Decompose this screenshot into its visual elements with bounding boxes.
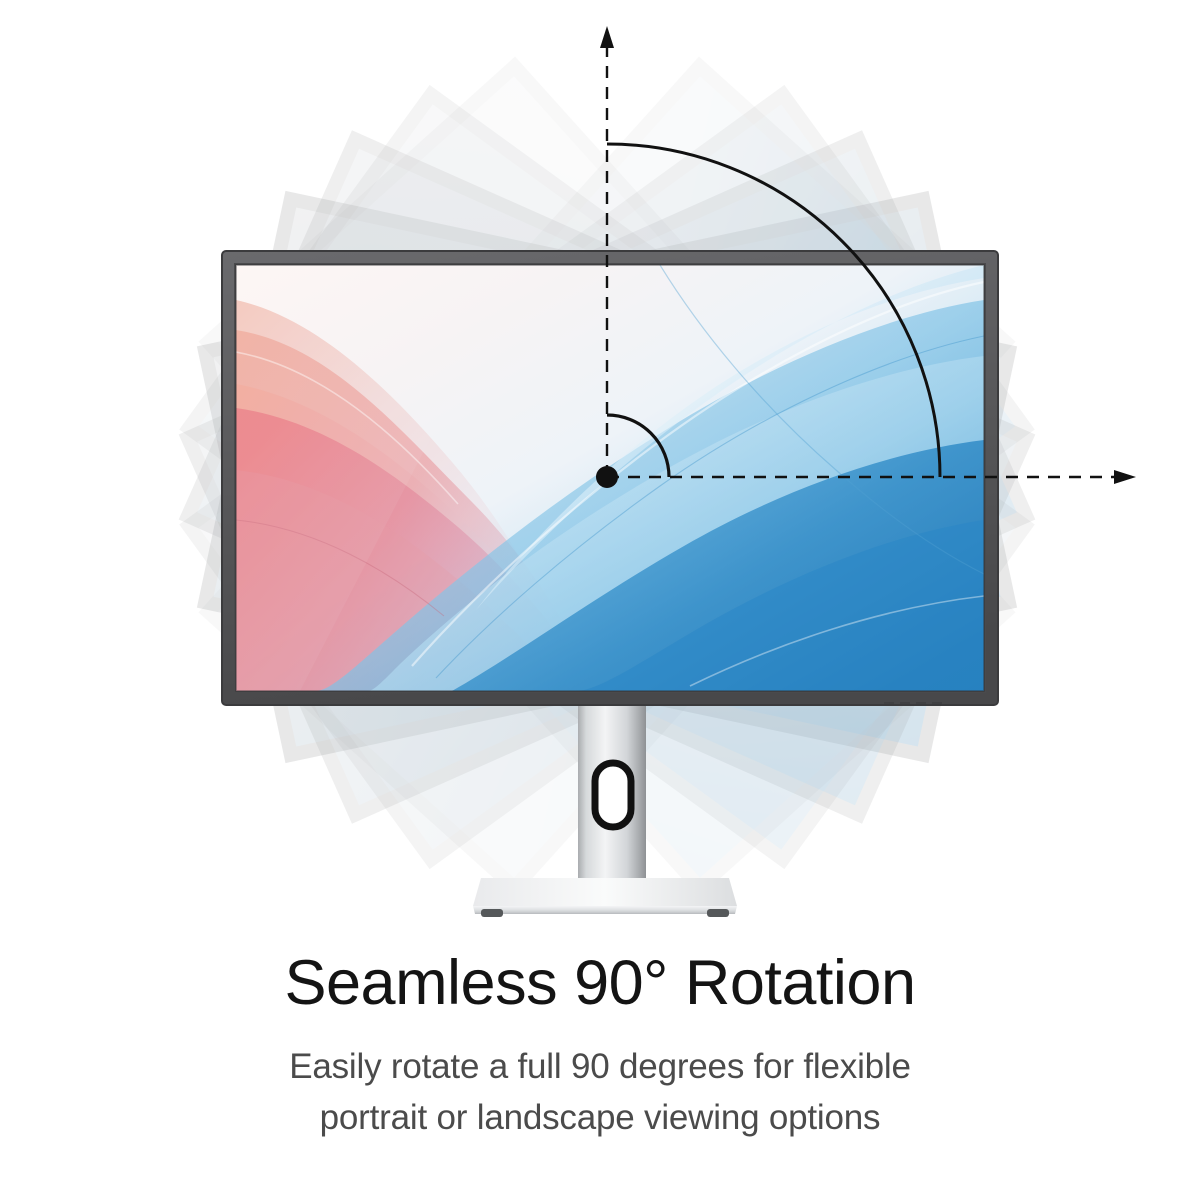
page-title: Seamless 90° Rotation (0, 950, 1200, 1016)
horizontal-axis-arrow (1114, 470, 1136, 484)
page-subtitle: Easily rotate a full 90 degrees for flex… (0, 1016, 1200, 1144)
monitor-rotation-illustration (0, 0, 1200, 940)
vertical-axis-arrow (600, 26, 614, 48)
page-subtitle-line-1: Easily rotate a full 90 degrees for flex… (0, 1042, 1200, 1093)
page-subtitle-line-2: portrait or landscape viewing options (0, 1093, 1200, 1144)
product-feature-image: Seamless 90° Rotation Easily rotate a fu… (0, 0, 1200, 1200)
caption-block: Seamless 90° Rotation Easily rotate a fu… (0, 950, 1200, 1144)
monitor-base (473, 878, 737, 917)
cable-management-hole (595, 763, 631, 827)
rotation-pivot-dot (596, 466, 618, 488)
